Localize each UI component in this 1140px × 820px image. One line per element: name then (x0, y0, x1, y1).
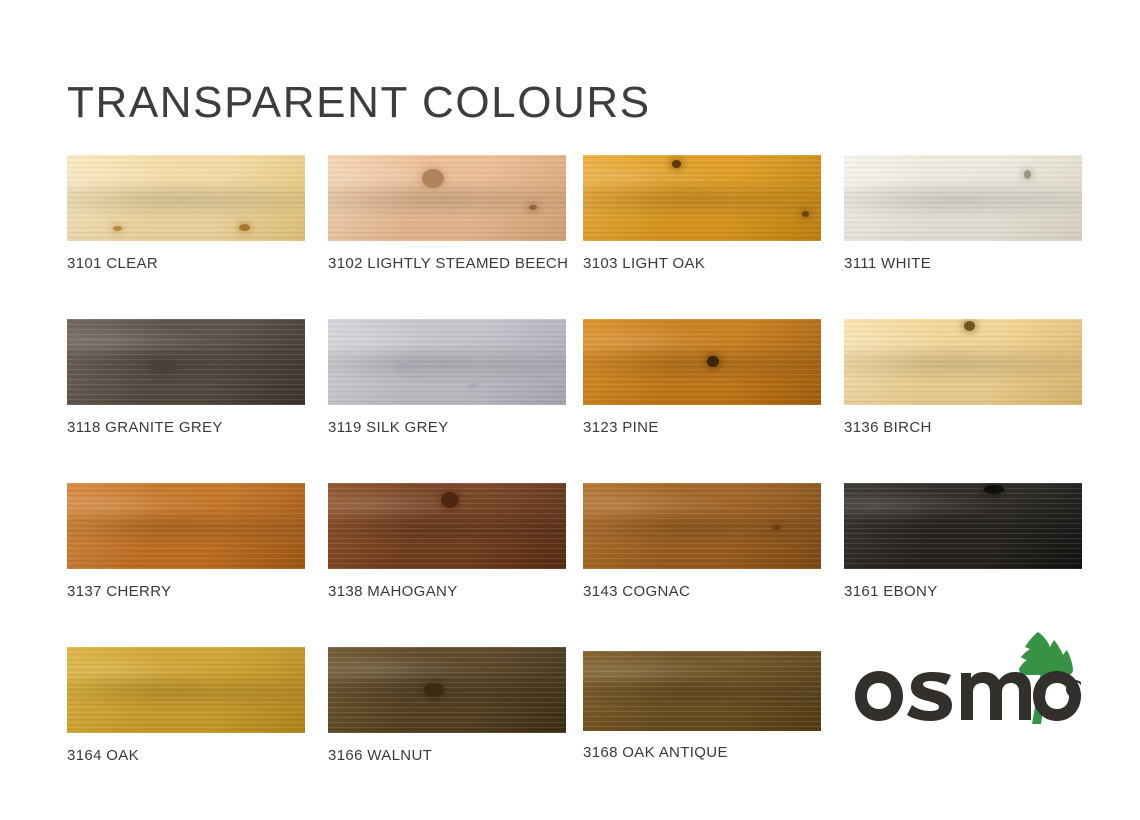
wood-grain-lines (328, 155, 566, 241)
wood-grain-shading (328, 319, 566, 405)
wood-knot (424, 683, 444, 697)
swatch-cell-3103[interactable]: 3103 LIGHT OAK (583, 155, 821, 241)
wood-knot (964, 321, 975, 331)
swatch-label-3166: 3166 WALNUT (328, 747, 432, 764)
osmo-wordmark (855, 671, 1081, 721)
wood-grain-shading (67, 647, 305, 733)
wood-grain-lines (844, 483, 1082, 569)
wood-grain-lines (583, 155, 821, 241)
colour-swatch-3164[interactable] (67, 647, 305, 733)
wood-grain-lines (67, 647, 305, 733)
wood-knot (1024, 170, 1031, 179)
wood-grain-shading (583, 651, 821, 731)
colour-swatch-3136[interactable] (844, 319, 1082, 405)
swatch-cell-3111[interactable]: 3111 WHITE (844, 155, 1082, 241)
swatch-cell-3143[interactable]: 3143 COGNAC (583, 483, 821, 569)
swatch-row: 3118 GRANITE GREY3119 SILK GREY3123 PINE… (67, 319, 1073, 483)
wood-grain-lines (844, 319, 1082, 405)
wood-knot (441, 492, 459, 508)
wood-grain-shading (328, 647, 566, 733)
swatch-cell-3102[interactable]: 3102 LIGHTLY STEAMED BEECH (328, 155, 566, 241)
wood-grain-lines (67, 319, 305, 405)
wood-grain-lines (583, 483, 821, 569)
colour-swatch-3161[interactable] (844, 483, 1082, 569)
wood-grain-shading (844, 483, 1082, 569)
wood-knot (239, 224, 250, 231)
colour-swatch-3102[interactable] (328, 155, 566, 241)
wood-knot (773, 525, 781, 530)
colour-swatch-3118[interactable] (67, 319, 305, 405)
swatch-cell-3119[interactable]: 3119 SILK GREY (328, 319, 566, 405)
swatch-cell-3118[interactable]: 3118 GRANITE GREY (67, 319, 305, 405)
colour-swatch-3103[interactable] (583, 155, 821, 241)
page-title: TRANSPARENT COLOURS (67, 81, 651, 125)
colour-swatch-3166[interactable] (328, 647, 566, 733)
swatch-row: 3101 CLEAR3102 LIGHTLY STEAMED BEECH3103… (67, 155, 1073, 319)
swatch-label-3143: 3143 COGNAC (583, 583, 690, 600)
wood-grain-lines (328, 647, 566, 733)
wood-grain-shading (67, 155, 305, 241)
colour-swatch-3168[interactable] (583, 651, 821, 731)
swatch-cell-3166[interactable]: 3166 WALNUT (328, 647, 566, 733)
wood-grain-shading (583, 483, 821, 569)
wood-grain-lines (583, 319, 821, 405)
wood-knot (469, 383, 478, 388)
osmo-logo: R (851, 628, 1081, 728)
wood-grain-shading (583, 155, 821, 241)
swatch-label-3119: 3119 SILK GREY (328, 419, 449, 436)
svg-text:R: R (1071, 685, 1078, 696)
colour-chart-page: TRANSPARENT COLOURS 3101 CLEAR3102 LIGHT… (0, 0, 1140, 820)
swatch-cell-3161[interactable]: 3161 EBONY (844, 483, 1082, 569)
swatch-label-3138: 3138 MAHOGANY (328, 583, 458, 600)
swatch-label-3123: 3123 PINE (583, 419, 659, 436)
swatch-label-3161: 3161 EBONY (844, 583, 938, 600)
wood-knot (672, 160, 681, 168)
swatch-cell-3137[interactable]: 3137 CHERRY (67, 483, 305, 569)
swatch-label-3118: 3118 GRANITE GREY (67, 419, 223, 436)
wood-grain-shading (328, 155, 566, 241)
wood-knot (529, 205, 537, 210)
swatch-cell-3101[interactable]: 3101 CLEAR (67, 155, 305, 241)
wood-knot (113, 226, 122, 231)
colour-swatch-3111[interactable] (844, 155, 1082, 241)
swatch-cell-3138[interactable]: 3138 MAHOGANY (328, 483, 566, 569)
colour-swatch-3101[interactable] (67, 155, 305, 241)
osmo-logo-svg: R (851, 628, 1081, 728)
swatch-label-3168: 3168 OAK ANTIQUE (583, 744, 728, 761)
wood-grain-shading (67, 319, 305, 405)
wood-grain-shading (583, 319, 821, 405)
wood-grain-lines (67, 155, 305, 241)
wood-grain-lines (328, 483, 566, 569)
swatch-cell-3164[interactable]: 3164 OAK (67, 647, 305, 733)
colour-swatch-3143[interactable] (583, 483, 821, 569)
swatch-label-3164: 3164 OAK (67, 747, 139, 764)
wood-knot (802, 211, 809, 217)
wood-knot (984, 485, 1004, 494)
wood-grain-shading (67, 483, 305, 569)
swatch-label-3103: 3103 LIGHT OAK (583, 255, 705, 272)
wood-grain-lines (583, 651, 821, 731)
wood-knot (707, 356, 719, 367)
wood-grain-lines (67, 483, 305, 569)
swatch-label-3102: 3102 LIGHTLY STEAMED BEECH (328, 255, 568, 272)
colour-swatch-3123[interactable] (583, 319, 821, 405)
swatch-label-3101: 3101 CLEAR (67, 255, 158, 272)
swatch-cell-3136[interactable]: 3136 BIRCH (844, 319, 1082, 405)
swatch-label-3136: 3136 BIRCH (844, 419, 932, 436)
swatch-cell-3123[interactable]: 3123 PINE (583, 319, 821, 405)
colour-swatch-3137[interactable] (67, 483, 305, 569)
wood-grain-shading (844, 319, 1082, 405)
swatch-label-3111: 3111 WHITE (844, 255, 931, 272)
swatch-row: 3137 CHERRY3138 MAHOGANY3143 COGNAC3161 … (67, 483, 1073, 647)
wood-grain-lines (328, 319, 566, 405)
wood-knot (422, 169, 444, 188)
wood-grain-shading (328, 483, 566, 569)
wood-grain-lines (844, 155, 1082, 241)
wood-knot (151, 361, 177, 373)
swatch-cell-3168[interactable]: 3168 OAK ANTIQUE (583, 647, 821, 731)
swatch-label-3137: 3137 CHERRY (67, 583, 171, 600)
wood-grain-shading (844, 155, 1082, 241)
wood-knot (398, 363, 408, 369)
colour-swatch-3119[interactable] (328, 319, 566, 405)
colour-swatch-3138[interactable] (328, 483, 566, 569)
